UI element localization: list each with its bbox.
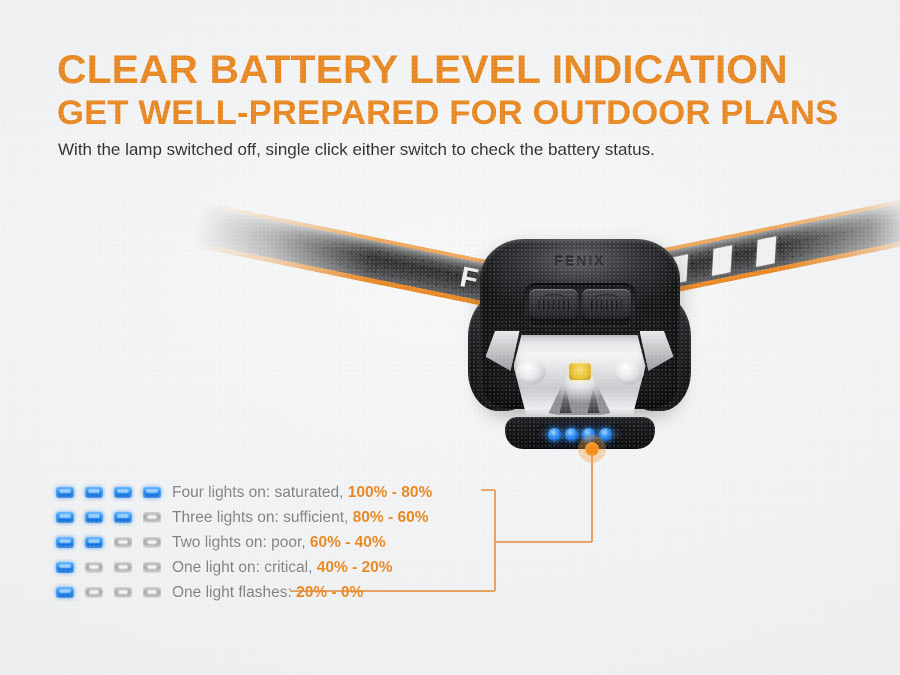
- indicator-cells: [56, 537, 161, 548]
- indicator-cell-off: [114, 562, 132, 573]
- legend-label: One light on: critical,: [172, 559, 312, 576]
- side-led-right: [614, 359, 644, 385]
- legend-row: One light flashes: 20% - 0%: [56, 580, 432, 605]
- battery-indicator-led: [582, 428, 595, 441]
- legend-row: Two lights on: poor, 60% - 40%: [56, 530, 432, 555]
- headline-block: CLEAR BATTERY LEVEL INDICATION GET WELL-…: [57, 48, 823, 133]
- switch-button-right[interactable]: [582, 289, 631, 321]
- indicator-cell-off: [143, 537, 161, 548]
- reflective-patch: [756, 236, 776, 267]
- headlamp-housing: FENIX: [462, 239, 697, 461]
- indicator-cells: [56, 587, 161, 598]
- indicator-cell-on: [85, 512, 103, 523]
- indicator-cells: [56, 487, 161, 498]
- indicator-cell-off: [143, 512, 161, 523]
- indicator-cell-on: [56, 487, 74, 498]
- product-marketing-poster: CLEAR BATTERY LEVEL INDICATION GET WELL-…: [0, 0, 900, 675]
- brand-logo: FENIX: [554, 253, 605, 269]
- switch-housing: [524, 283, 636, 327]
- indicator-cell-on: [85, 487, 103, 498]
- reflective-patch: [712, 245, 732, 276]
- headline-secondary: GET WELL-PREPARED FOR OUTDOOR PLANS: [57, 94, 838, 133]
- indicator-cell-on: [56, 512, 74, 523]
- legend-row: Three lights on: sufficient, 80% - 60%: [56, 505, 432, 530]
- legend-row: Four lights on: saturated, 100% - 80%: [56, 480, 432, 505]
- indicator-cell-off: [114, 537, 132, 548]
- indicator-cells: [56, 512, 161, 523]
- legend-percent: 60% - 40%: [310, 534, 386, 551]
- legend-percent: 80% - 60%: [353, 509, 429, 526]
- indicator-cell-on: [143, 487, 161, 498]
- indicator-cell-on: [114, 512, 132, 523]
- battery-indicator-led: [599, 428, 612, 441]
- legend-label: One light flashes:: [172, 584, 292, 601]
- indicator-cells: [56, 562, 161, 573]
- product-image: F FENIX: [0, 205, 900, 495]
- indicator-cell-off: [143, 587, 161, 598]
- battery-level-legend: Four lights on: saturated, 100% - 80% Th…: [56, 480, 432, 605]
- legend-label: Four lights on: saturated,: [172, 484, 343, 501]
- indicator-cell-off: [85, 562, 103, 573]
- indicator-cell-on: [85, 537, 103, 548]
- main-led-emitter: [569, 363, 591, 380]
- legend-percent: 40% - 20%: [317, 559, 393, 576]
- legend-percent: 100% - 80%: [348, 484, 432, 501]
- legend-label: Two lights on: poor,: [172, 534, 306, 551]
- legend-text: One light on: critical, 40% - 20%: [172, 559, 393, 577]
- legend-text: Two lights on: poor, 60% - 40%: [172, 534, 386, 552]
- head-strap-left: F: [192, 202, 505, 309]
- battery-indicator-led: [548, 428, 561, 441]
- legend-text: One light flashes: 20% - 0%: [172, 584, 363, 602]
- indicator-cell-off: [143, 562, 161, 573]
- legend-label: Three lights on: sufficient,: [172, 509, 348, 526]
- indicator-cell-on: [56, 587, 74, 598]
- indicator-cell-on: [56, 562, 74, 573]
- indicator-cell-on: [114, 487, 132, 498]
- indicator-cell-off: [114, 587, 132, 598]
- legend-percent: 20% - 0%: [296, 584, 363, 601]
- subtitle-text: With the lamp switched off, single click…: [58, 139, 655, 161]
- indicator-cell-off: [85, 587, 103, 598]
- legend-row: One light on: critical, 40% - 20%: [56, 555, 432, 580]
- switch-button-left[interactable]: [529, 289, 578, 321]
- legend-text: Four lights on: saturated, 100% - 80%: [172, 484, 432, 502]
- legend-text: Three lights on: sufficient, 80% - 60%: [172, 509, 428, 527]
- battery-indicator-bar: [538, 425, 622, 443]
- headline-primary: CLEAR BATTERY LEVEL INDICATION: [57, 48, 838, 92]
- side-led-left: [516, 359, 546, 385]
- indicator-cell-on: [56, 537, 74, 548]
- battery-indicator-led: [565, 428, 578, 441]
